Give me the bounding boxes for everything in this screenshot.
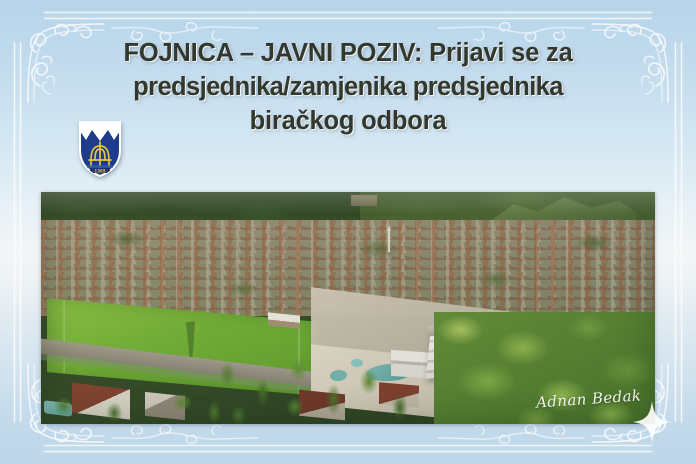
title-line-2: predsjednika/zamjenika predsjednika <box>48 70 648 104</box>
page-title: FOJNICA – JAVNI POZIV: Prijavi se za pre… <box>48 36 648 138</box>
frame-rule-top-inner <box>44 18 652 19</box>
title-line-1: FOJNICA – JAVNI POZIV: Prijavi se za <box>48 36 648 70</box>
frame-rule-top-outer <box>44 12 652 13</box>
frame-rule-left-inner <box>20 42 21 422</box>
title-line-3: biračkog odbora <box>48 104 648 138</box>
frame-rule-right-outer <box>681 42 682 422</box>
slide-canvas: FOJNICA – JAVNI POZIV: Prijavi se za pre… <box>0 0 696 464</box>
coat-of-arms-icon: 1365 <box>78 120 122 178</box>
frame-rule-right-inner <box>675 42 676 422</box>
frame-rule-bottom-outer <box>44 451 652 452</box>
frame-rule-left-outer <box>14 42 15 422</box>
sparkle-icon <box>632 400 672 444</box>
photo-vignette <box>41 192 655 424</box>
coat-of-arms-year: 1365 <box>94 168 105 173</box>
aerial-photo-of-fojnica: Adnan Bedak <box>41 192 655 424</box>
frame-rule-bottom-inner <box>44 445 652 446</box>
